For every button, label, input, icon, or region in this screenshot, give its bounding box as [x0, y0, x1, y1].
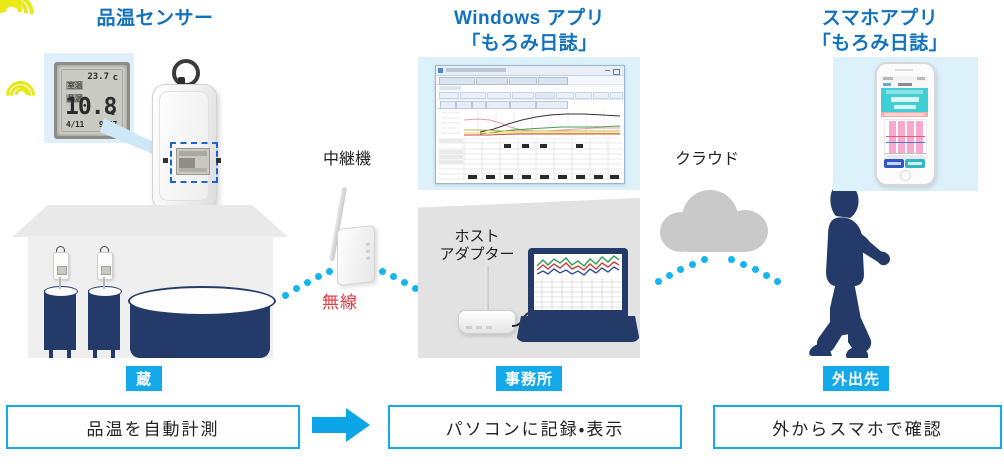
app-title-text — [446, 68, 506, 72]
phone-button-chart-settings[interactable] — [905, 159, 925, 168]
tank-2-top — [88, 286, 122, 297]
wireless-dot — [326, 268, 333, 275]
sensor-display-highlight — [170, 142, 218, 183]
cloud-dot — [763, 272, 770, 279]
windows-app-window — [435, 65, 625, 184]
tank-2-leg-a — [93, 348, 97, 358]
app-tabs[interactable] — [438, 100, 568, 109]
wireless-dot — [293, 285, 300, 292]
wireless-dot — [412, 285, 419, 292]
tank-1-leg-b — [67, 348, 71, 358]
wireless-dot — [282, 292, 289, 299]
cloud-dot — [752, 266, 759, 273]
phone-chart-ticks — [887, 155, 924, 158]
brewery-roof — [12, 205, 288, 237]
host-adapter-label: ホスト アダプター — [432, 228, 522, 264]
repeater-device — [337, 225, 375, 286]
tank-2 — [88, 290, 120, 350]
phone-chart-line-blue — [886, 142, 925, 143]
laptop-table — [534, 278, 622, 310]
step-box-3: 外からスマホで確認 — [713, 405, 1002, 449]
step-box-2: パソコンに記録・表示 — [388, 405, 682, 449]
app-data-grid[interactable] — [438, 138, 622, 180]
cloud-dot — [701, 256, 708, 263]
laptop-base — [516, 316, 640, 342]
app-minimize-icon — [605, 70, 610, 71]
phone-chart — [884, 119, 927, 159]
repeater-led-3 — [366, 257, 370, 260]
lcd-room-unit: c — [113, 73, 118, 83]
app-menubar[interactable] — [436, 76, 624, 85]
person-phone-wifi-icon — [0, 116, 26, 142]
app-line-chart — [438, 110, 622, 138]
sensor-arrow-right — [216, 158, 221, 163]
windows-app-title: Windows アプリ 「もろみ日誌」 — [432, 6, 627, 56]
sensor-arrow-left — [163, 158, 168, 163]
phone-button-day-view[interactable] — [884, 159, 904, 168]
phone-chart-band — [916, 121, 923, 153]
mini-sensor-1-wifi-icon — [0, 46, 20, 66]
badge-brewery: 蔵 — [126, 366, 162, 391]
phone-temp-room — [894, 105, 916, 109]
host-adapter-device — [458, 310, 516, 334]
phone-temp-product — [891, 97, 919, 102]
mini-sensor-2-wire — [103, 277, 105, 289]
repeater-led-1 — [366, 243, 370, 246]
smartphone-app-title: スマホアプリ 「もろみ日誌」 — [790, 6, 970, 56]
mini-sensor-2-display — [101, 266, 111, 275]
phone-screen[interactable] — [881, 76, 928, 170]
phone-temp-header — [881, 88, 928, 112]
mini-sensor-1-display — [57, 266, 67, 275]
walking-person-icon — [790, 182, 890, 362]
lcd-date: 4/11 — [66, 120, 84, 129]
cloud-dot — [774, 278, 781, 285]
laptop-chart — [534, 254, 622, 278]
host-adapter-antenna — [485, 266, 489, 316]
tank-1-top — [44, 286, 78, 297]
step-box-1: 品温を自動計測 — [6, 405, 300, 449]
host-adapter-port-3 — [486, 326, 492, 329]
sensor-section-title: 品温センサー — [60, 6, 250, 31]
tank-1 — [44, 290, 76, 350]
badge-outside: 外出先 — [823, 366, 889, 391]
phone-chart-line-red — [886, 136, 925, 137]
cloud-dot — [666, 272, 673, 279]
mini-sensor-1-wire — [59, 277, 61, 289]
phone-chart-band — [889, 121, 896, 153]
badge-office: 事務所 — [496, 366, 562, 391]
wireless-dot — [315, 273, 322, 280]
cloud-icon — [660, 190, 770, 252]
phone-alert-bar — [881, 112, 928, 117]
phone-chart-axis — [885, 153, 926, 154]
tank-1-leg-a — [49, 348, 53, 358]
phone-speaker-icon — [895, 69, 913, 71]
mini-sensor-1 — [53, 252, 69, 280]
tank-2-leg-b — [111, 348, 115, 358]
wireless-dot — [401, 279, 408, 286]
host-adapter-port-2 — [476, 326, 482, 329]
cloud-dot — [689, 261, 696, 268]
phone-header-band — [886, 90, 923, 94]
laptop-screen — [534, 254, 622, 310]
repeater-label: 中継機 — [303, 150, 391, 169]
wireless-dot — [304, 279, 311, 286]
phone-chart-band — [907, 121, 914, 153]
wireless-dot — [379, 268, 386, 275]
app-icon — [438, 68, 443, 73]
app-close-icon — [613, 69, 620, 75]
fermentation-vat-rim — [128, 286, 276, 316]
cloud-dot — [655, 278, 662, 285]
host-adapter-wifi-icon — [0, 86, 30, 116]
app-titlebar — [436, 66, 624, 76]
phone-home-button[interactable] — [900, 170, 911, 181]
phone-chart-band — [898, 121, 905, 153]
lcd-room-value: 23.7 — [87, 72, 109, 82]
wireless-dot — [390, 273, 397, 280]
cloud-dot — [740, 261, 747, 268]
host-adapter-port-1 — [466, 326, 472, 329]
sensor-hook-ring — [172, 59, 200, 87]
smartphone-device — [875, 62, 936, 186]
cloud-label: クラウド — [657, 150, 757, 169]
mini-sensor-2 — [97, 252, 113, 280]
repeater-led-2 — [366, 250, 370, 253]
app-toolbar[interactable] — [436, 85, 624, 100]
wireless-label: 無線 — [322, 288, 358, 313]
cloud-dot — [677, 266, 684, 273]
cloud-dot — [728, 256, 735, 263]
arrow-right-icon — [312, 405, 372, 445]
